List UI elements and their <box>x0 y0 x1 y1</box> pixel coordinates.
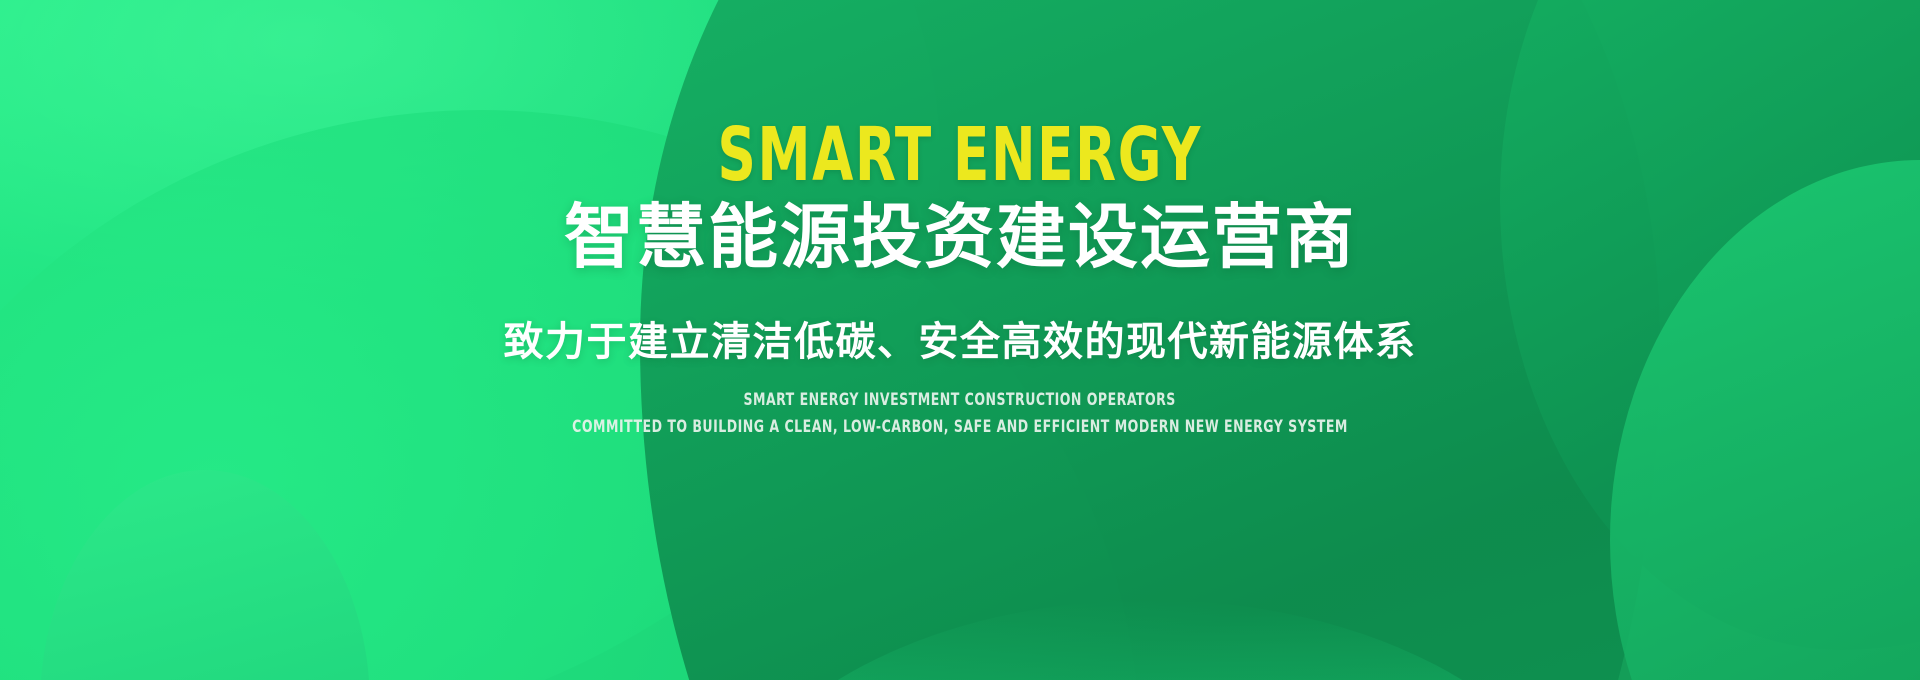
banner-subtitle-group: SMART ENERGY INVESTMENT CONSTRUCTION OPE… <box>487 390 1433 437</box>
hero-banner: SMART ENERGY 智慧能源投资建设运营商 致力于建立清洁低碳、安全高效的… <box>0 0 1920 680</box>
banner-subtitle-english-line2: COMMITTED TO BUILDING A CLEAN, LOW-CARBO… <box>572 417 1348 437</box>
banner-subtitle-english-line1: SMART ENERGY INVESTMENT CONSTRUCTION OPE… <box>744 390 1176 410</box>
banner-content: SMART ENERGY 智慧能源投资建设运营商 致力于建立清洁低碳、安全高效的… <box>0 0 1920 680</box>
banner-title-english: SMART ENERGY <box>718 118 1202 192</box>
banner-tagline-chinese: 致力于建立清洁低碳、安全高效的现代新能源体系 <box>504 320 1417 364</box>
banner-title-chinese: 智慧能源投资建设运营商 <box>564 200 1356 276</box>
